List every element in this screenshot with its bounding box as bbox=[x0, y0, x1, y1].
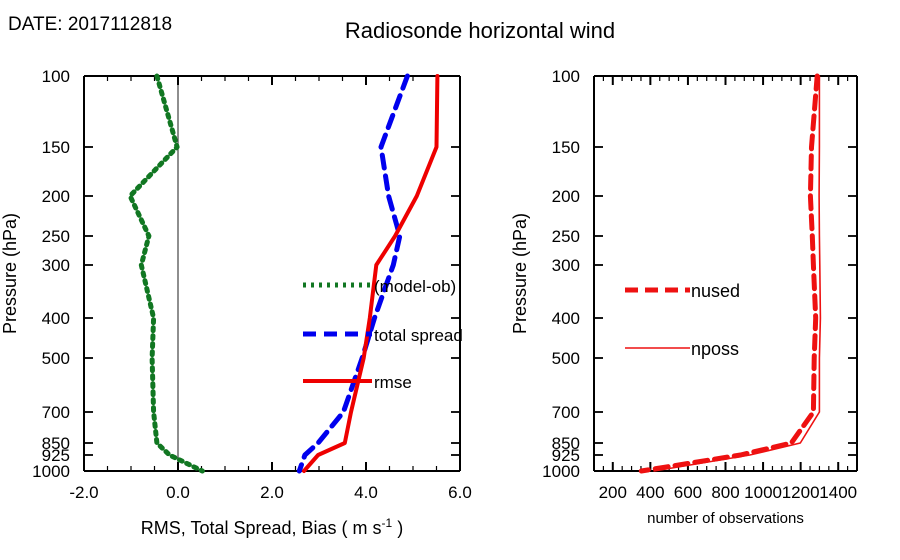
left-legend-label-rmse: rmse bbox=[374, 373, 412, 392]
right-panel-ylabel: Pressure (hPa) bbox=[510, 213, 530, 334]
right-panel-xtick-label: 200 bbox=[599, 483, 627, 502]
left-panel-ytick-label: 100 bbox=[42, 67, 70, 86]
left-panel-ytick-label: 1000 bbox=[32, 462, 70, 481]
right-legend-label-nused: nused bbox=[691, 281, 740, 301]
radiosonde-figure: -2.00.02.04.06.0100150200250300400500700… bbox=[0, 0, 900, 560]
left-panel-ytick-label: 150 bbox=[42, 138, 70, 157]
right-panel-series-nused bbox=[641, 76, 817, 471]
left-panel-ytick-label: 200 bbox=[42, 187, 70, 206]
left-panel-xtick-label: 2.0 bbox=[260, 483, 284, 502]
left-panel-ytick-label: 400 bbox=[42, 309, 70, 328]
right-panel-ytick-label: 700 bbox=[552, 403, 580, 422]
left-panel-ytick-label: 250 bbox=[42, 227, 70, 246]
right-panel-xtick-label: 1400 bbox=[819, 483, 857, 502]
left-panel-xtick-label: -2.0 bbox=[69, 483, 98, 502]
left-panel-xtick-label: 6.0 bbox=[448, 483, 472, 502]
left-panel-ytick-label: 500 bbox=[42, 349, 70, 368]
right-panel-ytick-label: 100 bbox=[552, 67, 580, 86]
left-panel-ytick-label: 700 bbox=[42, 403, 70, 422]
left-panel-ytick-label: 300 bbox=[42, 256, 70, 275]
left-legend-label-total-spread: total spread bbox=[374, 326, 463, 345]
right-panel-series-nposs bbox=[654, 76, 820, 471]
left-panel-xtick-label: 4.0 bbox=[354, 483, 378, 502]
right-panel-ytick-label: 1000 bbox=[542, 462, 580, 481]
right-panel-ytick-label: 150 bbox=[552, 138, 580, 157]
right-panel-ytick-label: 500 bbox=[552, 349, 580, 368]
right-panel-xtick-label: 1000 bbox=[744, 483, 782, 502]
left-panel-ylabel: Pressure (hPa) bbox=[0, 213, 20, 334]
right-panel-ytick-label: 300 bbox=[552, 256, 580, 275]
left-panel-xlabel: RMS, Total Spread, Bias ( m s-1 ) bbox=[141, 516, 403, 538]
right-panel-xlabel: number of observations bbox=[647, 510, 804, 527]
right-panel-xtick-label: 600 bbox=[674, 483, 702, 502]
right-panel-xtick-label: 800 bbox=[711, 483, 739, 502]
right-panel-ytick-label: 250 bbox=[552, 227, 580, 246]
left-panel-series-total-spread bbox=[299, 76, 407, 471]
left-legend-label--model-ob-: (model-ob) bbox=[374, 277, 456, 296]
left-panel-series--model-ob- bbox=[130, 76, 202, 471]
right-panel-xtick-label: 400 bbox=[636, 483, 664, 502]
left-panel-xtick-label: 0.0 bbox=[166, 483, 190, 502]
left-panel-series-rmse bbox=[304, 76, 437, 471]
right-panel-xtick-label: 1200 bbox=[782, 483, 820, 502]
right-panel-ytick-label: 400 bbox=[552, 309, 580, 328]
right-panel-ytick-label: 200 bbox=[552, 187, 580, 206]
right-legend-label-nposs: nposs bbox=[691, 339, 739, 359]
